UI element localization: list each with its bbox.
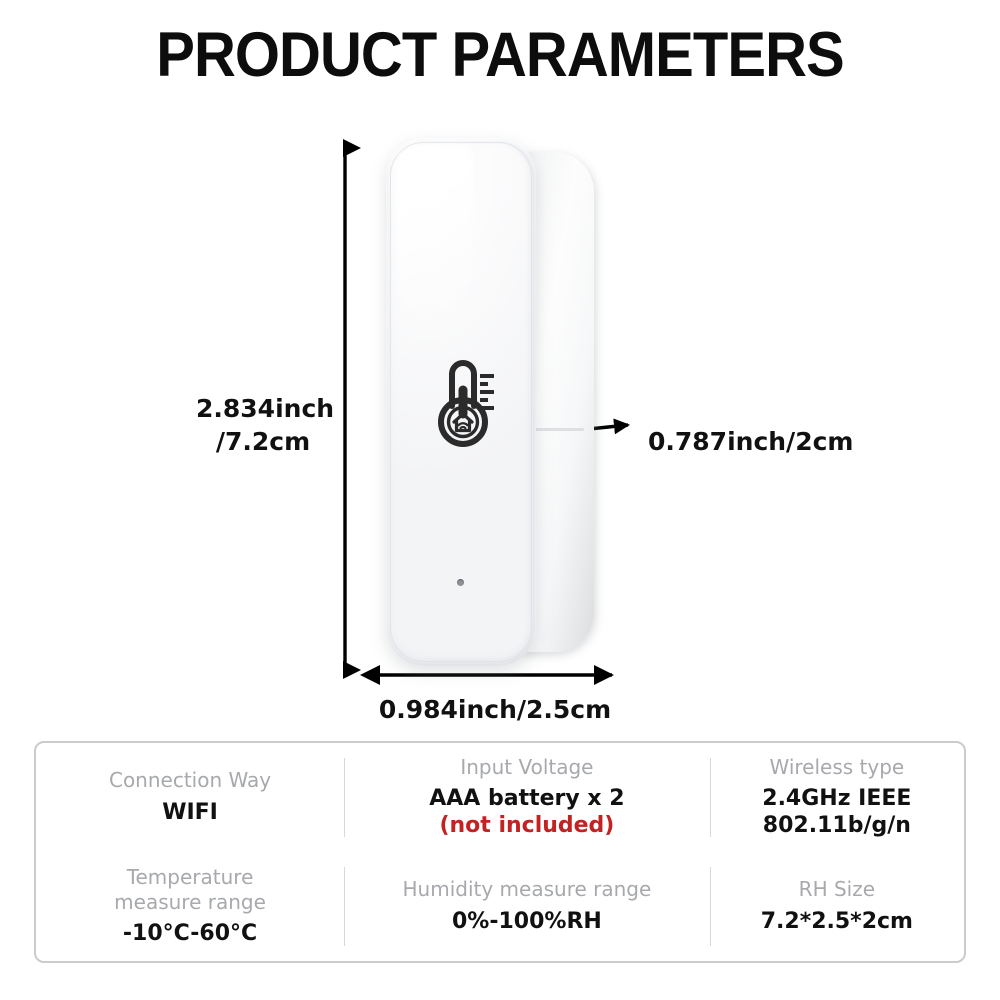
spec-value-note: (not included) bbox=[439, 813, 614, 840]
spec-label-line1: Connection Way bbox=[109, 768, 271, 792]
spec-value: 7.2*2.5*2cm bbox=[761, 909, 913, 936]
spec-label: Temperature measure range bbox=[114, 865, 266, 914]
spec-value: WIFI bbox=[162, 800, 218, 827]
product-device bbox=[386, 138, 601, 668]
spec-label-line2: measure range bbox=[114, 890, 266, 914]
spec-label: Humidity measure range bbox=[403, 877, 652, 901]
spec-cell-humidity-range: Humidity measure range 0%-100%RH bbox=[344, 852, 710, 961]
spec-value: -10°C-60°C bbox=[123, 921, 257, 948]
depth-dimension-label: 0.787inch/2cm bbox=[648, 425, 853, 458]
spec-label: Connection Way bbox=[109, 768, 271, 792]
height-dimension-label: 2.834inch /7.2cm bbox=[196, 392, 330, 458]
spec-value-line1: 0%-100%RH bbox=[452, 909, 602, 934]
page-title: PRODUCT PARAMETERS bbox=[40, 22, 960, 88]
product-illustration: 2.834inch /7.2cm 0.787inch/2cm 0.984inch… bbox=[0, 110, 1000, 730]
spec-value: 2.4GHz IEEE 802.11b/g/n bbox=[762, 786, 911, 840]
spec-label-line1: Input Voltage bbox=[460, 755, 593, 779]
spec-cell-input-voltage: Input Voltage AAA battery x 2 (not inclu… bbox=[344, 743, 710, 852]
spec-label: RH Size bbox=[799, 877, 875, 901]
thermometer-house-wifi-icon bbox=[424, 340, 504, 452]
spec-label-line1: Humidity measure range bbox=[403, 877, 652, 901]
spec-value-line2: 802.11b/g/n bbox=[762, 813, 911, 840]
specification-table: Connection Way WIFI Input Voltage AAA ba… bbox=[34, 741, 966, 963]
width-dimension-label: 0.984inch/2.5cm bbox=[330, 693, 660, 726]
led-indicator bbox=[457, 579, 464, 586]
spec-value: AAA battery x 2 bbox=[429, 786, 624, 813]
device-face-highlight bbox=[396, 146, 474, 316]
height-dimension-cm: /7.2cm bbox=[216, 427, 310, 456]
spec-row: Connection Way WIFI Input Voltage AAA ba… bbox=[36, 743, 964, 852]
spec-cell-temperature-range: Temperature measure range -10°C-60°C bbox=[36, 852, 344, 961]
spec-value-line1: -10°C-60°C bbox=[123, 921, 257, 946]
spec-label: Input Voltage bbox=[460, 755, 593, 779]
spec-value-line1: AAA battery x 2 bbox=[429, 786, 624, 811]
spec-label-line1: Temperature bbox=[127, 865, 254, 889]
spec-label-line1: RH Size bbox=[799, 877, 875, 901]
device-front-face bbox=[386, 138, 536, 666]
spec-value-line1: 2.4GHz IEEE bbox=[762, 786, 911, 811]
spec-label: Wireless type bbox=[770, 755, 905, 779]
spec-row: Temperature measure range -10°C-60°C Hum… bbox=[36, 852, 964, 961]
spec-value-line1: WIFI bbox=[162, 800, 218, 825]
spec-value: 0%-100%RH bbox=[452, 909, 602, 936]
spec-cell-rh-size: RH Size 7.2*2.5*2cm bbox=[710, 852, 964, 961]
spec-cell-wireless-type: Wireless type 2.4GHz IEEE 802.11b/g/n bbox=[710, 743, 964, 852]
spec-label-line1: Wireless type bbox=[770, 755, 905, 779]
spec-cell-connection-way: Connection Way WIFI bbox=[36, 743, 344, 852]
spec-value-line1: 7.2*2.5*2cm bbox=[761, 909, 913, 934]
height-dimension-inches: 2.834inch bbox=[196, 394, 334, 423]
